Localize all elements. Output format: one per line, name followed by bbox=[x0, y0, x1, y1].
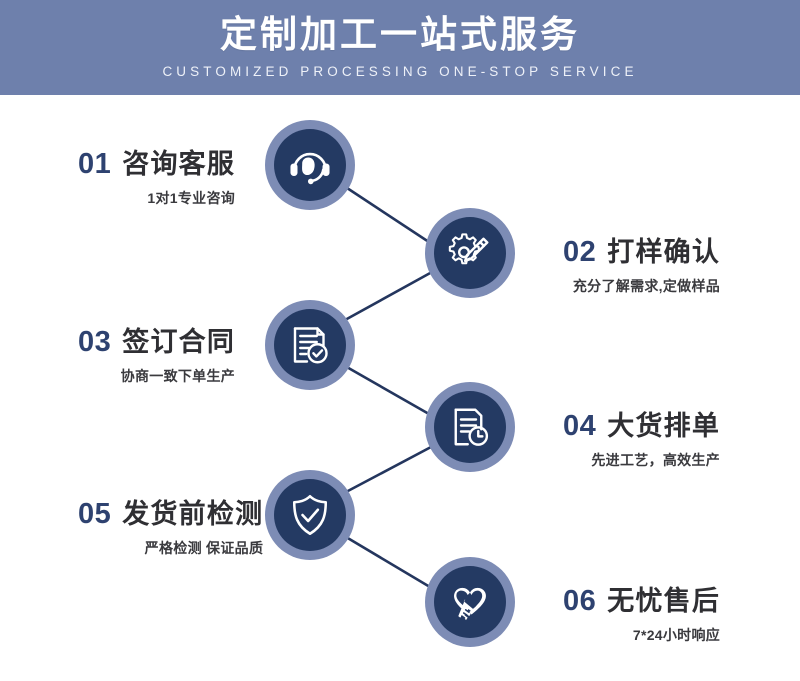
step-number-4: 04 bbox=[563, 410, 596, 443]
step-text-5: 05 发货前检测 严格检测 保证品质 bbox=[78, 492, 263, 558]
step-number-3: 03 bbox=[78, 326, 111, 359]
handshake-heart-icon bbox=[434, 566, 506, 638]
step-text-2: 02 打样确认 充分了解需求,定做样品 bbox=[563, 230, 720, 296]
step-title-4: 大货排单 bbox=[607, 404, 720, 443]
step-number-6: 06 bbox=[563, 585, 596, 618]
step-subtitle-6: 7*24小时响应 bbox=[563, 625, 720, 645]
contract-check-icon bbox=[274, 309, 346, 381]
step-text-3: 03 签订合同 协商一致下单生产 bbox=[78, 320, 235, 386]
step-headline-5: 05 发货前检测 bbox=[78, 492, 263, 531]
step-subtitle-3: 协商一致下单生产 bbox=[78, 366, 235, 386]
step-icon-6[interactable] bbox=[425, 557, 515, 647]
step-headline-1: 01 咨询客服 bbox=[78, 142, 235, 181]
step-subtitle-2: 充分了解需求,定做样品 bbox=[563, 276, 720, 296]
connector-1-2 bbox=[344, 186, 438, 248]
step-icon-4[interactable] bbox=[425, 382, 515, 472]
step-title-6: 无忧售后 bbox=[607, 579, 720, 618]
step-number-1: 01 bbox=[78, 148, 111, 181]
step-headline-2: 02 打样确认 bbox=[563, 230, 720, 269]
step-text-6: 06 无忧售后 7*24小时响应 bbox=[563, 579, 720, 645]
step-number-2: 02 bbox=[563, 236, 596, 269]
step-text-4: 04 大货排单 先进工艺，高效生产 bbox=[563, 404, 720, 470]
step-icon-5[interactable] bbox=[265, 470, 355, 560]
connector-4-5 bbox=[346, 447, 431, 492]
document-clock-icon bbox=[434, 391, 506, 463]
step-title-1: 咨询客服 bbox=[122, 142, 235, 181]
step-headline-6: 06 无忧售后 bbox=[563, 579, 720, 618]
step-subtitle-5: 严格检测 保证品质 bbox=[78, 538, 263, 558]
connector-3-4 bbox=[345, 366, 436, 418]
step-text-1: 01 咨询客服 1对1专业咨询 bbox=[78, 142, 235, 208]
step-subtitle-1: 1对1专业咨询 bbox=[78, 188, 235, 208]
step-icon-3[interactable] bbox=[265, 300, 355, 390]
step-title-2: 打样确认 bbox=[607, 230, 720, 269]
step-headline-3: 03 签订合同 bbox=[78, 320, 235, 359]
shield-check-icon bbox=[274, 479, 346, 551]
step-subtitle-4: 先进工艺，高效生产 bbox=[563, 450, 720, 470]
connector-2-3 bbox=[345, 272, 432, 320]
step-title-3: 签订合同 bbox=[122, 320, 235, 359]
gear-pencil-icon bbox=[434, 217, 506, 289]
step-number-5: 05 bbox=[78, 498, 111, 531]
headset-icon bbox=[274, 129, 346, 201]
connector-5-6 bbox=[346, 537, 435, 590]
step-title-5: 发货前检测 bbox=[122, 492, 263, 531]
step-icon-2[interactable] bbox=[425, 208, 515, 298]
step-headline-4: 04 大货排单 bbox=[563, 404, 720, 443]
step-icon-1[interactable] bbox=[265, 120, 355, 210]
